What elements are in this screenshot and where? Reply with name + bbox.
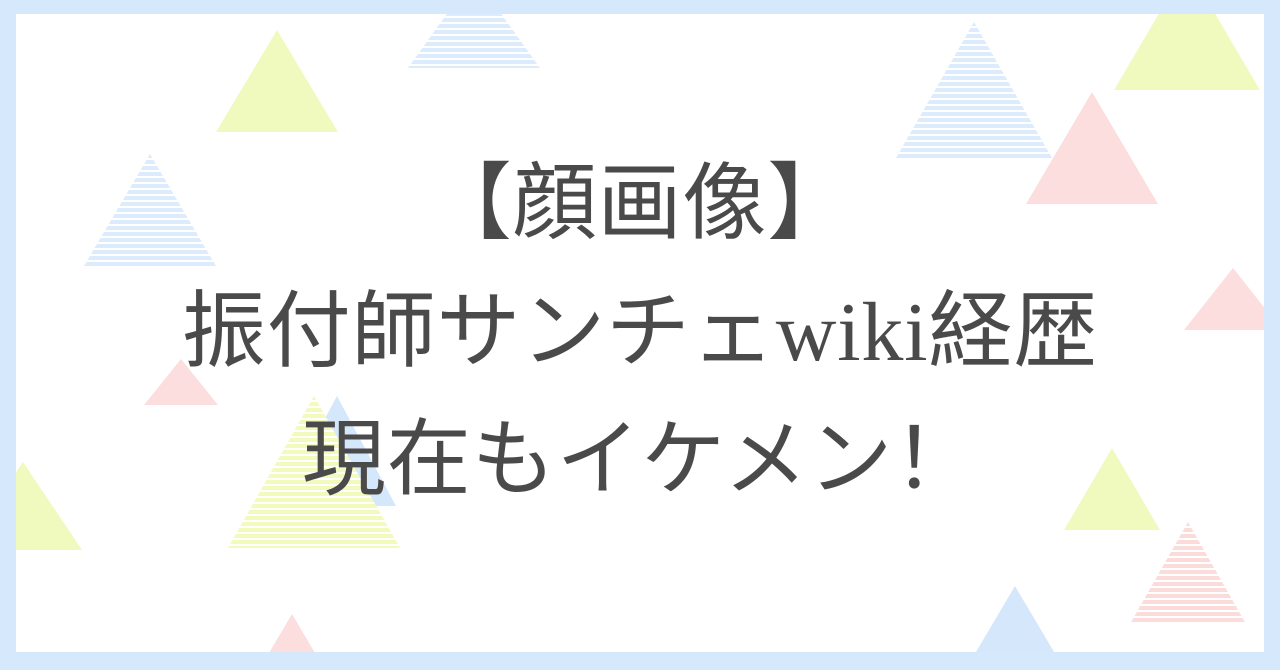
headline-line-3: 現在もイケメン！	[302, 397, 978, 525]
headline-block: 【顔画像】 振付師サンチェwiki経歴 現在もイケメン！	[16, 14, 1264, 652]
headline-line-1: 【顔画像】	[428, 141, 852, 269]
title-card: 【顔画像】 振付師サンチェwiki経歴 現在もイケメン！	[0, 0, 1280, 670]
card-canvas: 【顔画像】 振付師サンチェwiki経歴 現在もイケメン！	[16, 14, 1264, 652]
headline-line-2: 振付師サンチェwiki経歴	[182, 269, 1098, 397]
